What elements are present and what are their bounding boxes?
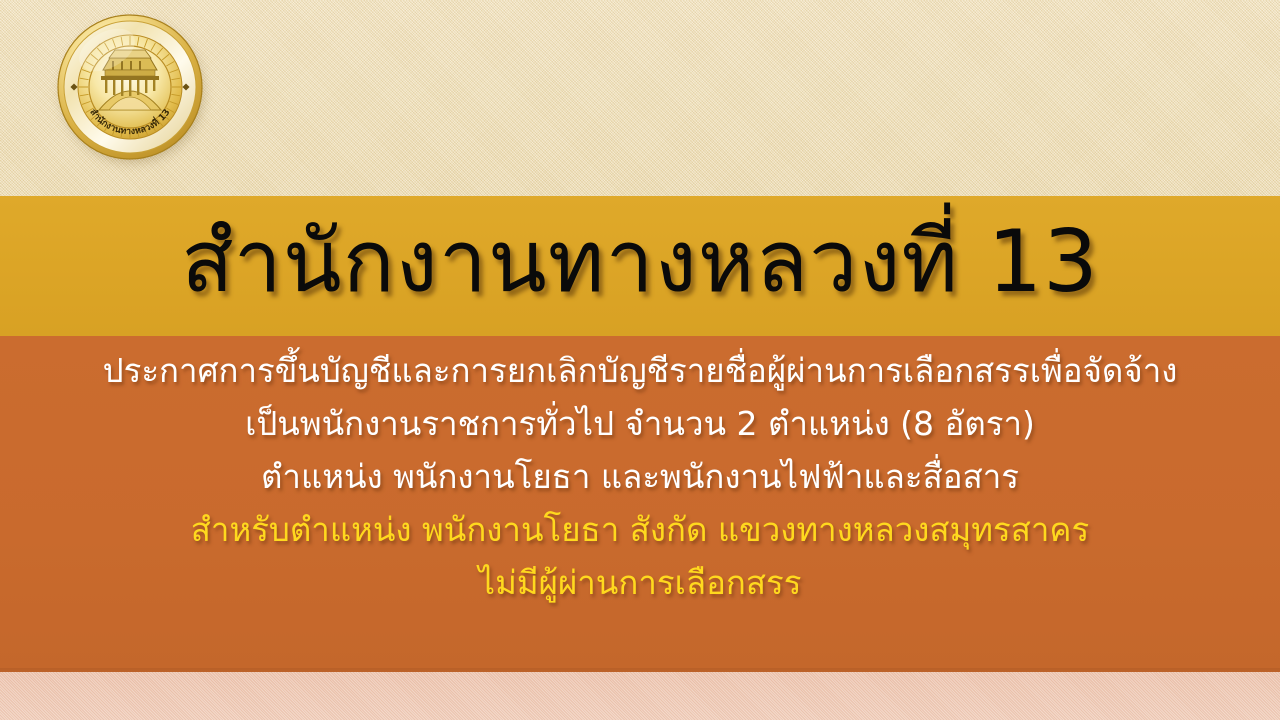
bottom-pink-background-band [0,672,1280,720]
announcement-line-5-result: ไม่มีผู้ผ่านการเลือกสรร [479,566,802,601]
department-of-highways-logo: กรมทางหลวง [57,14,205,162]
announcement-line-2: เป็นพนักงานราชการทั่วไป จำนวน 2 ตำแหน่ง … [245,407,1035,442]
announcement-line-4-highlight: สำหรับตำแหน่ง พนักงานโยธา สังกัด แขวงทาง… [191,513,1089,548]
page-title: สำนักงานทางหลวงที่ 13 [181,219,1099,305]
announcement-line-1: ประกาศการขึ้นบัญชีและการยกเลิกบัญชีรายชื… [103,354,1178,389]
announcement-slide: กรมทางหลวง [0,0,1280,720]
announcement-line-3: ตำแหน่ง พนักงานโยธา และพนักงานไฟฟ้าและสื… [261,460,1019,495]
department-of-highways-seal-icon: กรมทางหลวง [57,14,203,160]
announcement-text-block: ประกาศการขึ้นบัญชีและการยกเลิกบัญชีรายชื… [0,346,1280,666]
page-title-container: สำนักงานทางหลวงที่ 13 [0,196,1280,336]
